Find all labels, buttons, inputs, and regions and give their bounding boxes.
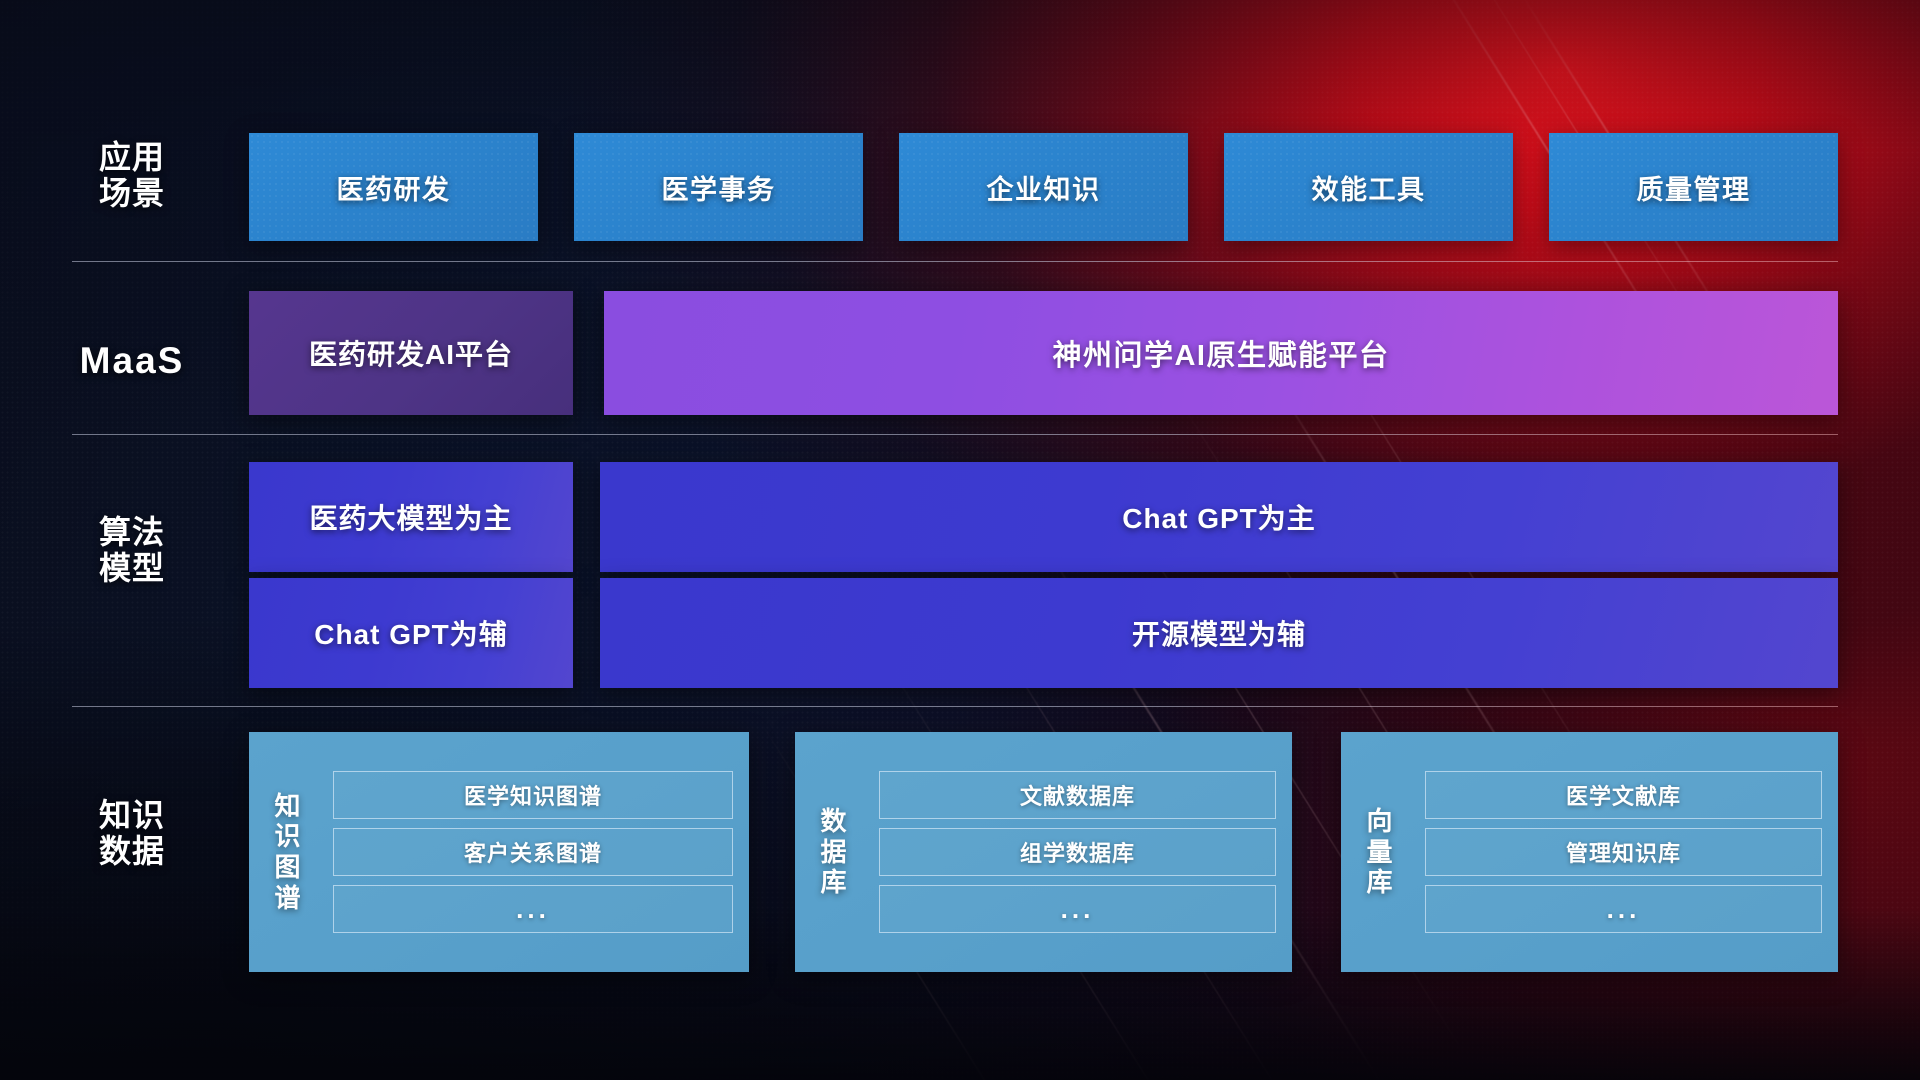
knowledge-item-label: 文献数据库	[1020, 779, 1135, 811]
architecture-diagram: 应用 场景 医药研发 医学事务 企业知识 效能工具 质量管理 MaaS	[0, 0, 1920, 1080]
title-char: 识	[274, 821, 301, 852]
row-label-maas: MaaS	[72, 340, 192, 381]
app-box-2[interactable]: 医学事务	[574, 133, 863, 241]
title-char: 图	[274, 852, 301, 883]
knowledge-item[interactable]: 文献数据库	[879, 771, 1276, 819]
algo-box-label: Chat GPT为辅	[314, 613, 508, 653]
row-label-line: 场景	[72, 176, 192, 212]
knowledge-panel-title: 数 据 库	[795, 732, 873, 972]
title-char: 库	[820, 867, 847, 898]
algo-right-box-2[interactable]: 开源模型为辅	[600, 578, 1838, 688]
knowledge-item-label: 组学数据库	[1020, 836, 1135, 868]
maas-left-box[interactable]: 医药研发AI平台	[249, 291, 573, 415]
title-char: 知	[274, 791, 301, 822]
app-box-4[interactable]: 效能工具	[1224, 133, 1513, 241]
knowledge-item-more[interactable]: ...	[1425, 885, 1822, 933]
title-char: 谱	[274, 883, 301, 914]
knowledge-panel-title: 知 识 图 谱	[249, 732, 327, 972]
knowledge-panel-title: 向 量 库	[1341, 732, 1419, 972]
title-char: 据	[820, 837, 847, 868]
knowledge-item-label: 客户关系图谱	[464, 836, 602, 868]
knowledge-item[interactable]: 医学文献库	[1425, 771, 1822, 819]
title-char: 向	[1366, 806, 1393, 837]
app-box-3[interactable]: 企业知识	[899, 133, 1188, 241]
title-char: 数	[820, 806, 847, 837]
row-label-line: 知识	[72, 798, 192, 834]
row-divider-2	[72, 434, 1838, 435]
row-label-line: 应用	[72, 140, 192, 176]
algo-box-label: Chat GPT为主	[1122, 497, 1316, 537]
row-divider-3	[72, 706, 1838, 707]
app-box-1[interactable]: 医药研发	[249, 133, 538, 241]
knowledge-item-more[interactable]: ...	[333, 885, 733, 933]
knowledge-panel-vector-store[interactable]: 向 量 库 医学文献库 管理知识库 ...	[1341, 732, 1838, 972]
row-label-algorithm-model: 算法 模型	[72, 515, 192, 587]
knowledge-item-label: ...	[1061, 894, 1095, 925]
knowledge-panel-items: 医学文献库 管理知识库 ...	[1419, 732, 1838, 972]
algo-left-box-1[interactable]: 医药大模型为主	[249, 462, 573, 572]
row-label-knowledge-data: 知识 数据	[72, 798, 192, 870]
maas-right-label: 神州问学AI原生赋能平台	[1052, 332, 1389, 374]
app-box-label: 效能工具	[1312, 168, 1426, 207]
app-box-label: 企业知识	[987, 168, 1101, 207]
row-label-line: MaaS	[72, 340, 192, 381]
knowledge-item[interactable]: 组学数据库	[879, 828, 1276, 876]
knowledge-panel-items: 医学知识图谱 客户关系图谱 ...	[327, 732, 749, 972]
knowledge-item[interactable]: 客户关系图谱	[333, 828, 733, 876]
knowledge-panel-items: 文献数据库 组学数据库 ...	[873, 732, 1292, 972]
app-box-label: 医药研发	[337, 168, 451, 207]
maas-right-box[interactable]: 神州问学AI原生赋能平台	[604, 291, 1838, 415]
knowledge-item[interactable]: 管理知识库	[1425, 828, 1822, 876]
row-label-line: 数据	[72, 834, 192, 870]
knowledge-item-label: ...	[516, 894, 550, 925]
row-divider-1	[72, 261, 1838, 262]
row-label-line: 算法	[72, 515, 192, 551]
row-label-application-scenario: 应用 场景	[72, 140, 192, 212]
knowledge-item-label: 管理知识库	[1566, 836, 1681, 868]
app-box-5[interactable]: 质量管理	[1549, 133, 1838, 241]
algo-right-box-1[interactable]: Chat GPT为主	[600, 462, 1838, 572]
title-char: 库	[1366, 867, 1393, 898]
app-box-label: 医学事务	[662, 168, 776, 207]
knowledge-item-label: 医学知识图谱	[464, 779, 602, 811]
row-label-line: 模型	[72, 551, 192, 587]
knowledge-panel-knowledge-graph[interactable]: 知 识 图 谱 医学知识图谱 客户关系图谱 ...	[249, 732, 749, 972]
knowledge-item-more[interactable]: ...	[879, 885, 1276, 933]
knowledge-item-label: ...	[1607, 894, 1641, 925]
knowledge-item[interactable]: 医学知识图谱	[333, 771, 733, 819]
algo-box-label: 医药大模型为主	[309, 497, 512, 537]
knowledge-item-label: 医学文献库	[1566, 779, 1681, 811]
algo-left-box-2[interactable]: Chat GPT为辅	[249, 578, 573, 688]
title-char: 量	[1366, 837, 1393, 868]
algo-box-label: 开源模型为辅	[1132, 613, 1306, 653]
knowledge-panel-database[interactable]: 数 据 库 文献数据库 组学数据库 ...	[795, 732, 1292, 972]
app-box-label: 质量管理	[1637, 168, 1751, 207]
maas-left-label: 医药研发AI平台	[309, 333, 513, 373]
